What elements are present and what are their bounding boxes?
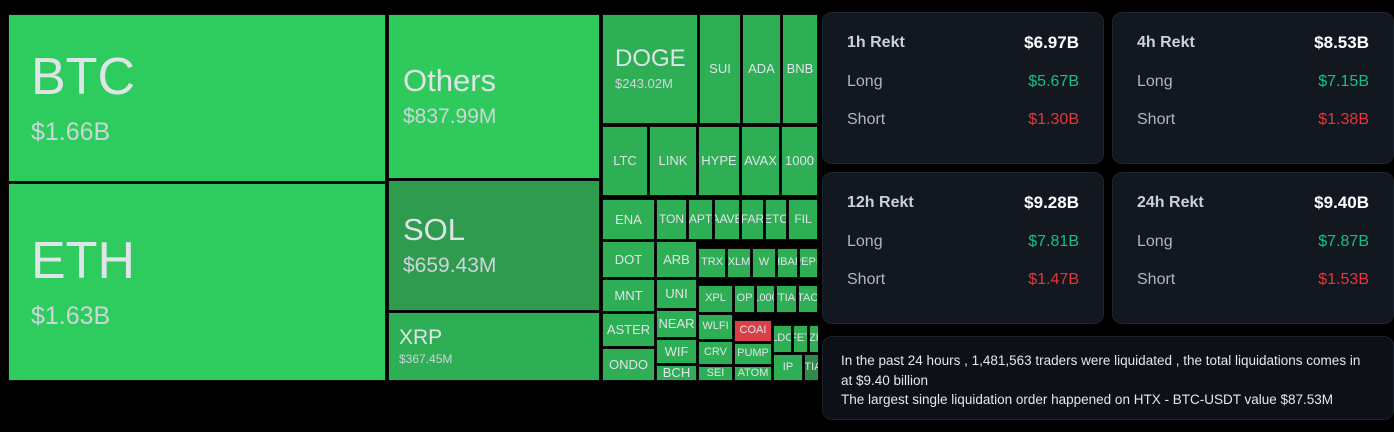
- treemap-tile[interactable]: XRP$367.45M: [388, 312, 600, 381]
- tile-symbol: APT: [689, 213, 712, 226]
- tile-value: $837.99M: [389, 105, 599, 128]
- tile-symbol: 1000: [756, 293, 775, 305]
- treemap-tile[interactable]: ASTER: [602, 313, 655, 347]
- card-row: Short$1.30B: [847, 111, 1079, 129]
- treemap-tile[interactable]: Others$837.99M: [388, 14, 600, 179]
- tile-symbol: COAI: [740, 325, 767, 337]
- treemap-tile[interactable]: DOT: [602, 241, 655, 278]
- tile-symbol: NEAR: [658, 317, 694, 331]
- tile-symbol: PEPE: [799, 257, 818, 269]
- tile-symbol: ASTER: [607, 323, 650, 337]
- card-long-value: $5.67B: [1028, 73, 1079, 91]
- tile-value: $659.43M: [389, 254, 599, 277]
- tile-symbol: AAVE: [714, 213, 740, 226]
- card-row: Short$1.47B: [847, 271, 1079, 289]
- treemap-tile[interactable]: FET: [793, 325, 808, 353]
- treemap-tile[interactable]: AVAX: [741, 126, 780, 196]
- liquidation-dashboard: BTC$1.66BETH$1.63BOthers$837.99MSOL$659.…: [0, 0, 1394, 432]
- tile-symbol: ADA: [748, 62, 775, 76]
- treemap-tile[interactable]: DOGE$243.02M: [602, 14, 698, 124]
- card-short-value: $1.47B: [1028, 271, 1079, 289]
- treemap-tile[interactable]: BNB: [782, 14, 818, 124]
- treemap-tile[interactable]: ETH$1.63B: [8, 183, 386, 381]
- treemap-tile[interactable]: WLFI: [698, 314, 733, 340]
- treemap-tile[interactable]: MNT: [602, 279, 655, 312]
- card-short-value: $1.38B: [1318, 111, 1369, 129]
- tile-symbol: TIA2: [804, 362, 818, 374]
- treemap-tile[interactable]: SUI: [699, 14, 741, 124]
- treemap-tile[interactable]: NEAR: [656, 310, 697, 338]
- tile-symbol: BCH: [663, 366, 690, 380]
- treemap-tile[interactable]: APT: [688, 199, 713, 240]
- tile-symbol: SUI: [709, 62, 731, 76]
- tile-symbol: XRP: [389, 327, 599, 349]
- tile-symbol: IP: [783, 362, 793, 374]
- treemap-tile[interactable]: ATOM: [734, 366, 772, 381]
- rekt-card: 12h Rekt$9.28BLong$7.81BShort$1.47B: [822, 172, 1104, 324]
- rekt-cards-grid: 1h Rekt$6.97BLong$5.67BShort$1.30B4h Rek…: [822, 12, 1394, 324]
- treemap-tile[interactable]: XLM: [727, 248, 751, 278]
- treemap-tile[interactable]: CRV: [698, 341, 733, 365]
- tile-symbol: BNB: [787, 62, 814, 76]
- tile-symbol: BTC: [9, 50, 385, 105]
- treemap-tile[interactable]: LTC: [602, 126, 648, 196]
- card-row: Long$7.81B: [847, 233, 1079, 251]
- tile-symbol: ATOM: [738, 368, 769, 380]
- tile-symbol: FAR: [741, 213, 764, 226]
- card-short-value: $1.53B: [1318, 271, 1369, 289]
- treemap-tile[interactable]: ETC: [765, 199, 787, 240]
- liquidation-summary-card: In the past 24 hours , 1,481,563 traders…: [822, 336, 1394, 420]
- treemap-tile[interactable]: COAI: [734, 320, 772, 342]
- treemap-tile[interactable]: PUMP: [734, 343, 772, 365]
- treemap-tile[interactable]: TON: [656, 199, 687, 240]
- tile-symbol: DOT: [615, 253, 642, 267]
- tile-symbol: FIL: [794, 213, 811, 226]
- tile-symbol: LTC: [613, 154, 637, 168]
- treemap-tile[interactable]: HBAR: [777, 248, 798, 278]
- card-long-label: Long: [847, 73, 883, 91]
- card-row: 12h Rekt$9.28B: [847, 193, 1079, 213]
- treemap-tile[interactable]: IP: [773, 354, 803, 381]
- treemap-tile[interactable]: 1000: [781, 126, 818, 196]
- tile-symbol: UNI: [665, 287, 687, 301]
- treemap-tile[interactable]: OP: [734, 285, 755, 313]
- card-total: $9.28B: [1024, 193, 1079, 213]
- tile-symbol: CRV: [704, 347, 727, 359]
- tile-symbol: MNT: [614, 289, 642, 303]
- card-row: 1h Rekt$6.97B: [847, 33, 1079, 53]
- tile-symbol: TAO: [798, 293, 818, 305]
- treemap-tile[interactable]: 1000: [756, 285, 775, 313]
- card-short-label: Short: [847, 271, 885, 289]
- card-short-label: Short: [847, 111, 885, 129]
- tile-symbol: W: [759, 257, 769, 269]
- tile-symbol: WLFI: [702, 321, 728, 333]
- tile-symbol: LINK: [659, 154, 688, 168]
- card-row: Long$7.87B: [1137, 233, 1369, 251]
- card-row: 4h Rekt$8.53B: [1137, 33, 1369, 53]
- tile-symbol: SEI: [707, 368, 725, 380]
- treemap-tile[interactable]: BCH: [656, 365, 697, 381]
- tile-symbol: DOGE: [603, 46, 697, 71]
- card-title: 12h Rekt: [847, 194, 914, 212]
- card-short-label: Short: [1137, 111, 1175, 129]
- tile-symbol: ETC: [765, 213, 787, 226]
- treemap-tile[interactable]: SEI: [698, 366, 733, 381]
- tile-symbol: PUMP: [737, 348, 769, 360]
- card-total: $6.97B: [1024, 33, 1079, 53]
- card-short-value: $1.30B: [1028, 111, 1079, 129]
- tile-symbol: LDO: [773, 333, 792, 345]
- card-row: Long$7.15B: [1137, 73, 1369, 91]
- tile-symbol: FET: [793, 333, 808, 345]
- treemap-tile[interactable]: TIA: [776, 285, 797, 313]
- card-long-value: $7.81B: [1028, 233, 1079, 251]
- tile-symbol: SOL: [389, 214, 599, 247]
- treemap-tile[interactable]: TRX: [698, 248, 726, 278]
- tile-symbol: HBAR: [777, 257, 798, 269]
- liquidation-treemap[interactable]: BTC$1.66BETH$1.63BOthers$837.99MSOL$659.…: [0, 0, 818, 432]
- rekt-card: 24h Rekt$9.40BLong$7.87BShort$1.53B: [1112, 172, 1394, 324]
- treemap-tile[interactable]: AAVE: [714, 199, 740, 240]
- card-total: $9.40B: [1314, 193, 1369, 213]
- tile-symbol: ONDO: [609, 358, 648, 372]
- card-long-label: Long: [1137, 73, 1173, 91]
- tile-symbol: AVAX: [744, 154, 777, 168]
- treemap-tile[interactable]: HYPE: [698, 126, 740, 196]
- tile-symbol: ETH: [9, 234, 385, 289]
- tile-symbol: 1000: [785, 154, 814, 168]
- tile-symbol: TIA: [778, 293, 795, 305]
- treemap-tile[interactable]: XPL: [698, 285, 733, 313]
- card-long-label: Long: [847, 233, 883, 251]
- tile-symbol: ZK: [809, 333, 818, 345]
- card-row: Short$1.38B: [1137, 111, 1369, 129]
- treemap-tile[interactable]: TIA2: [804, 354, 818, 381]
- treemap-tile[interactable]: ENA: [602, 199, 655, 240]
- card-long-value: $7.87B: [1318, 233, 1369, 251]
- treemap-tile[interactable]: ZK: [809, 325, 818, 353]
- rekt-card: 4h Rekt$8.53BLong$7.15BShort$1.38B: [1112, 12, 1394, 164]
- summary-line-1: In the past 24 hours , 1,481,563 traders…: [841, 351, 1375, 390]
- tile-symbol: TON: [659, 213, 684, 226]
- card-long-label: Long: [1137, 233, 1173, 251]
- treemap-tile[interactable]: ADA: [742, 14, 781, 124]
- card-title: 4h Rekt: [1137, 34, 1195, 52]
- tile-symbol: XPL: [705, 293, 726, 305]
- treemap-tile[interactable]: WIF: [656, 339, 697, 364]
- tile-value: $1.63B: [9, 303, 385, 331]
- treemap-tile[interactable]: ARB: [656, 241, 697, 278]
- rekt-stats-panel: 1h Rekt$6.97BLong$5.67BShort$1.30B4h Rek…: [822, 0, 1394, 432]
- card-title: 1h Rekt: [847, 34, 905, 52]
- tile-symbol: Others: [389, 65, 599, 98]
- card-title: 24h Rekt: [1137, 194, 1204, 212]
- treemap-tile[interactable]: FAR: [741, 199, 764, 240]
- card-row: Short$1.53B: [1137, 271, 1369, 289]
- tile-value: $1.66B: [9, 119, 385, 147]
- tile-value: $367.45M: [389, 353, 599, 366]
- treemap-tile[interactable]: TAO: [798, 285, 818, 313]
- tile-symbol: WIF: [665, 345, 689, 359]
- treemap-tile[interactable]: BTC$1.66B: [8, 14, 386, 182]
- tile-value: $243.02M: [603, 77, 697, 91]
- card-row: Long$5.67B: [847, 73, 1079, 91]
- tile-symbol: OP: [737, 293, 753, 305]
- card-short-label: Short: [1137, 271, 1175, 289]
- card-total: $8.53B: [1314, 33, 1369, 53]
- tile-symbol: ARB: [663, 253, 690, 267]
- rekt-card: 1h Rekt$6.97BLong$5.67BShort$1.30B: [822, 12, 1104, 164]
- treemap-tile[interactable]: UNI: [656, 279, 697, 309]
- tile-symbol: ENA: [615, 213, 642, 227]
- treemap-tile[interactable]: ONDO: [602, 348, 655, 381]
- tile-symbol: HYPE: [701, 154, 736, 168]
- summary-line-2: The largest single liquidation order hap…: [841, 390, 1375, 410]
- tile-symbol: TRX: [701, 257, 723, 269]
- treemap-tile[interactable]: PEPE: [799, 248, 818, 278]
- treemap-tile[interactable]: SOL$659.43M: [388, 180, 600, 311]
- tile-symbol: XLM: [728, 257, 751, 269]
- treemap-tile[interactable]: W: [752, 248, 776, 278]
- treemap-tile[interactable]: FIL: [788, 199, 818, 240]
- card-long-value: $7.15B: [1318, 73, 1369, 91]
- treemap-tile[interactable]: LINK: [649, 126, 697, 196]
- treemap-tile[interactable]: LDO: [773, 325, 792, 353]
- card-row: 24h Rekt$9.40B: [1137, 193, 1369, 213]
